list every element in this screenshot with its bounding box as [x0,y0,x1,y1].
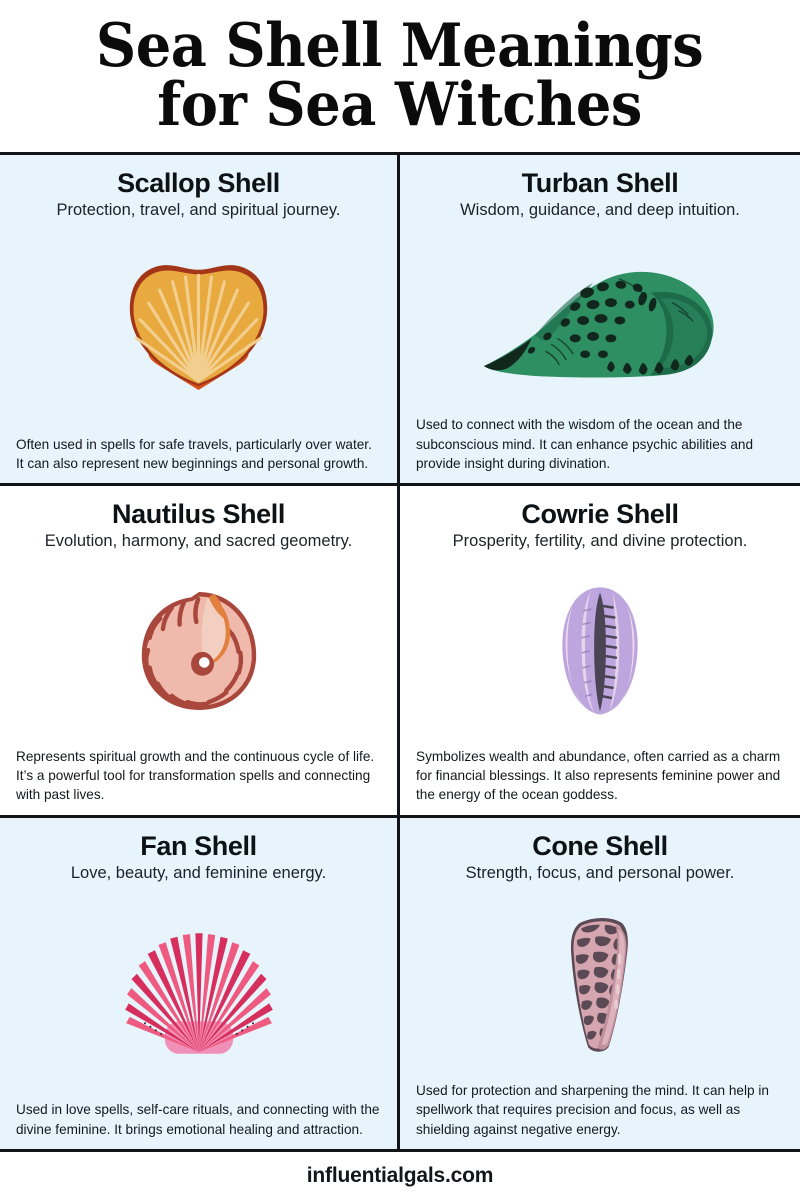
shell-keywords: Love, beauty, and feminine energy. [16,863,381,884]
shell-keywords: Protection, travel, and spiritual journe… [16,200,381,221]
shell-art [416,886,784,1081]
nautilus-shell-illustration [133,585,265,717]
shell-keywords: Prosperity, fertility, and divine protec… [416,531,784,552]
shell-description: Often used in spells for safe travels, p… [16,435,381,474]
shell-description: Used to connect with the wisdom of the o… [416,415,784,473]
poster-title-line-2: for Sea Witches [158,76,643,135]
shell-card-cowrie[interactable]: Cowrie Shell Prosperity, fertility, and … [400,486,800,817]
turban-shell-illustration [476,255,724,384]
shell-card-fan[interactable]: Fan Shell Love, beauty, and feminine ene… [0,818,400,1149]
shell-art [16,554,381,746]
shell-title: Cowrie Shell [416,500,784,529]
shell-title: Nautilus Shell [16,500,381,529]
shell-art [416,554,784,746]
shell-description: Represents spiritual growth and the cont… [16,747,381,805]
poster-header: Sea Shell Meanings for Sea Witches [0,0,800,152]
shell-card-scallop[interactable]: Scallop Shell Protection, travel, and sp… [0,155,400,486]
shell-description: Used for protection and sharpening the m… [416,1081,784,1139]
shell-title: Cone Shell [416,832,784,861]
shell-keywords: Evolution, harmony, and sacred geometry. [16,531,381,552]
shell-description: Symbolizes wealth and abundance, often c… [416,747,784,805]
shell-grid: Scallop Shell Protection, travel, and sp… [0,152,800,1152]
cowrie-shell-illustration [554,584,646,718]
shell-title: Scallop Shell [16,169,381,198]
shell-card-turban[interactable]: Turban Shell Wisdom, guidance, and deep … [400,155,800,486]
shell-keywords: Wisdom, guidance, and deep intuition. [416,200,784,221]
cone-shell-illustration [549,911,651,1056]
shell-art [16,223,381,435]
infographic-poster: Sea Shell Meanings for Sea Witches Scall… [0,0,800,1200]
shell-art [16,886,381,1101]
shell-card-cone[interactable]: Cone Shell Strength, focus, and personal… [400,818,800,1149]
poster-footer: influentialgals.com [0,1152,800,1200]
shell-card-nautilus[interactable]: Nautilus Shell Evolution, harmony, and s… [0,486,400,817]
website-url[interactable]: influentialgals.com [307,1164,493,1188]
poster-title-line-1: Sea Shell Meanings [96,17,703,76]
shell-title: Fan Shell [16,832,381,861]
scallop-shell-illustration [106,255,291,403]
shell-keywords: Strength, focus, and personal power. [416,863,784,884]
shell-title: Turban Shell [416,169,784,198]
shell-description: Used in love spells, self-care rituals, … [16,1100,381,1139]
shell-art [416,223,784,415]
fan-shell-illustration [109,926,289,1061]
